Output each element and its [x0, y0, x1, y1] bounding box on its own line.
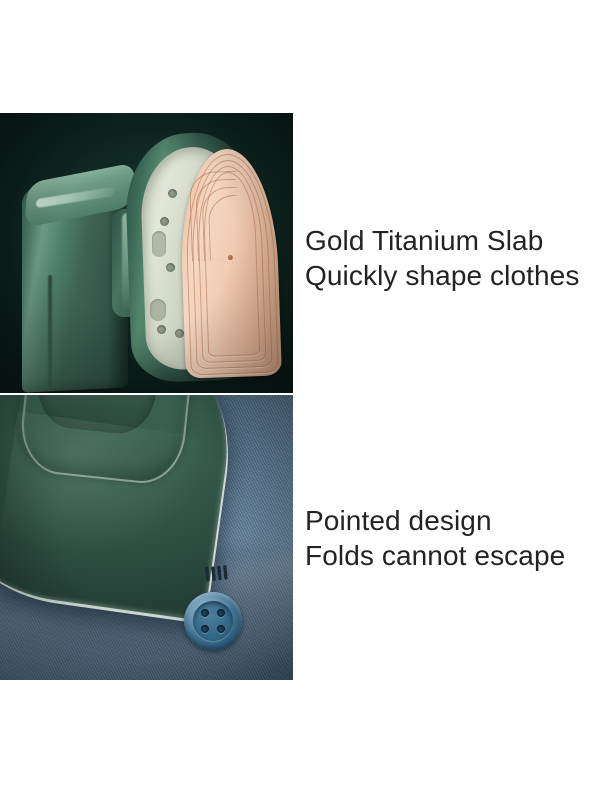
soleplate-center-dot	[228, 255, 233, 260]
caption-line-1: Gold Titanium Slab	[305, 223, 579, 258]
photo-iron-on-denim	[0, 395, 293, 680]
product-feature-page: Gold Titanium Slab Quickly shape clothes…	[0, 0, 600, 800]
iron-handle-groove	[48, 275, 52, 387]
button-hole	[217, 625, 225, 633]
button-hole	[201, 609, 209, 617]
steam-hole	[175, 329, 184, 338]
button-hole	[217, 609, 225, 617]
button-inner-ring	[193, 601, 233, 641]
steam-hole	[160, 217, 169, 226]
caption-line-1: Pointed design	[305, 503, 565, 538]
steam-hole	[168, 189, 177, 198]
shirt-button	[184, 592, 242, 650]
steam-hole	[166, 263, 175, 272]
thread-stitching	[205, 565, 233, 584]
photo-angled-iron	[0, 113, 293, 393]
caption-line-2: Quickly shape clothes	[305, 258, 579, 293]
pan-slot	[152, 231, 166, 257]
soleplate-tip-lines	[185, 167, 240, 265]
pan-slot	[150, 299, 166, 321]
caption-pointed-design: Pointed design Folds cannot escape	[305, 503, 565, 573]
button-hole	[201, 625, 209, 633]
caption-gold-titanium-slab: Gold Titanium Slab Quickly shape clothes	[305, 223, 579, 293]
gold-titanium-soleplate	[178, 147, 282, 378]
caption-line-2: Folds cannot escape	[305, 538, 565, 573]
steam-hole	[157, 325, 166, 334]
